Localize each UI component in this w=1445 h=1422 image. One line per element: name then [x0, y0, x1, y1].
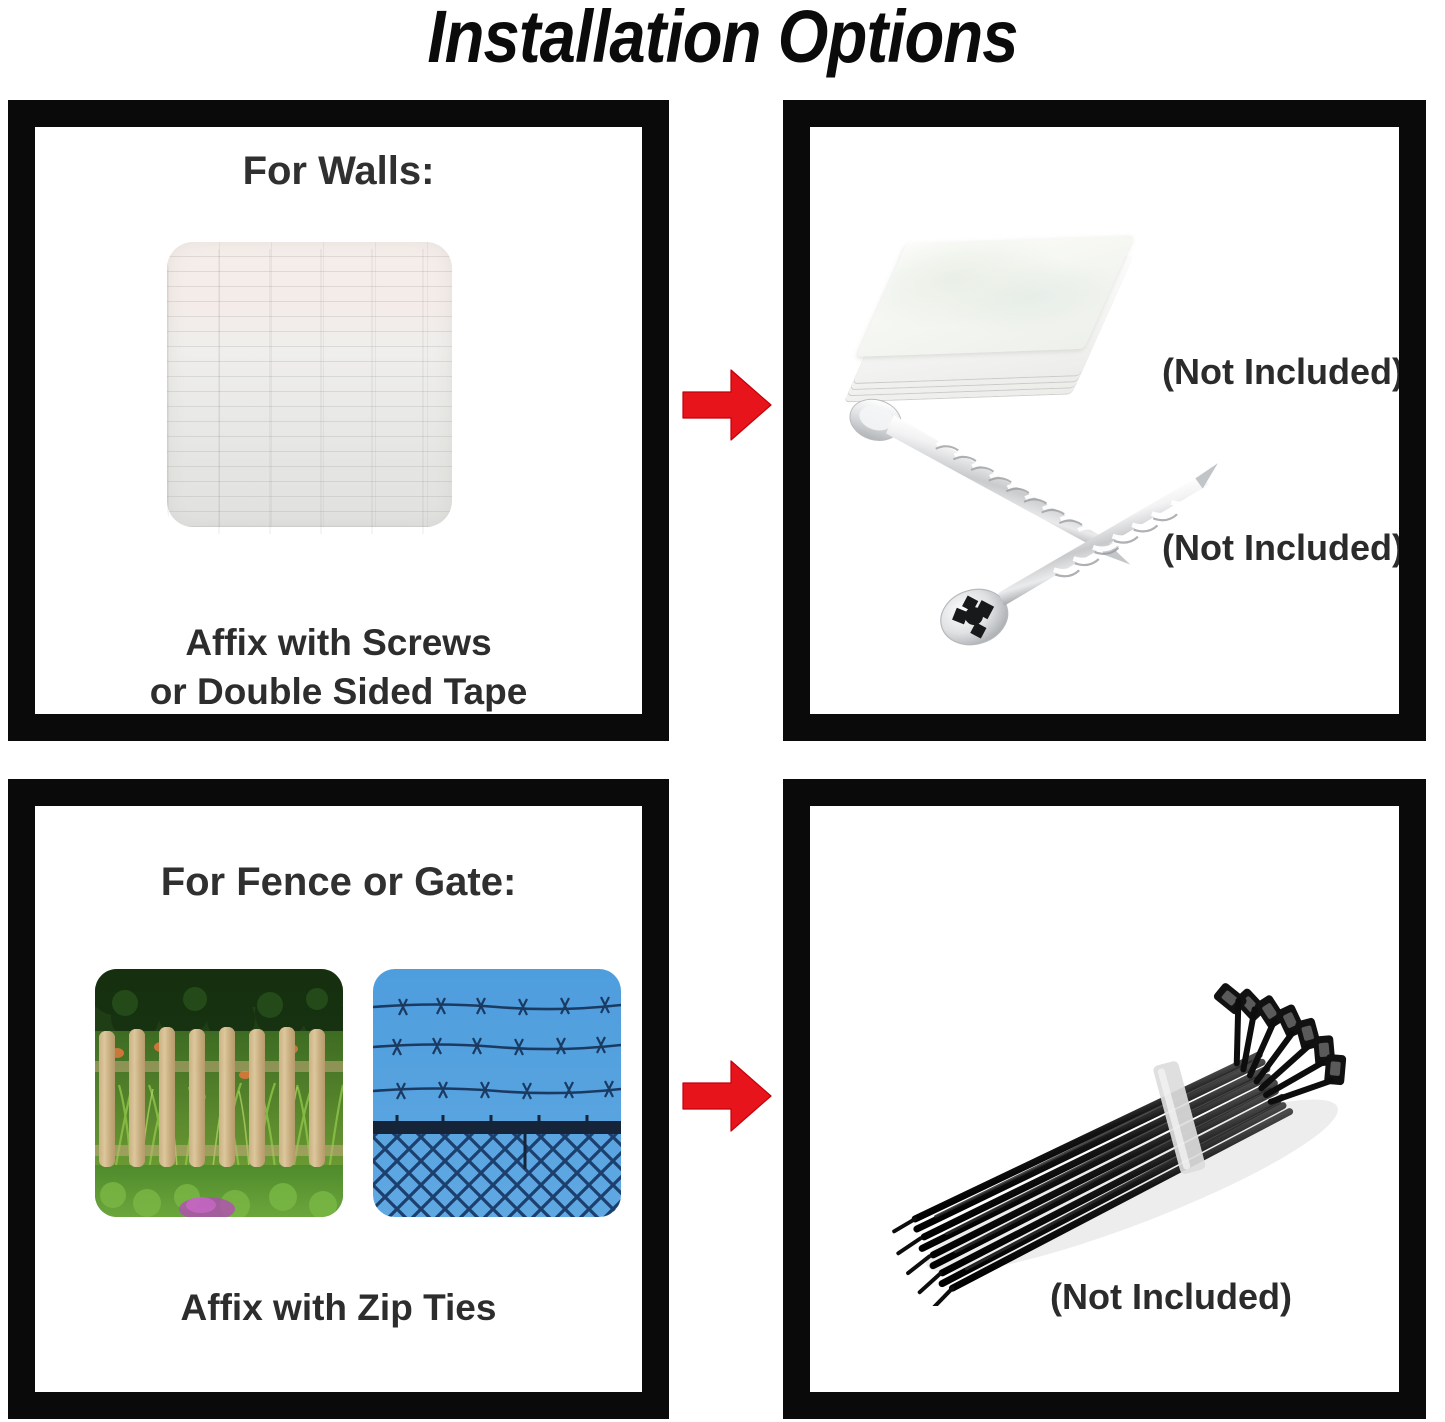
panel-for-fence-content: For Fence or Gate:: [35, 806, 642, 1392]
red-right-arrow-icon-bottom: [681, 1057, 773, 1135]
panel-for-fence-or-gate: For Fence or Gate:: [8, 779, 669, 1419]
panel-heading-for-walls: For Walls:: [35, 149, 642, 194]
screws-not-included-label: (Not Included): [1162, 527, 1399, 569]
page-title: Installation Options: [87, 0, 1359, 79]
panel-fence-hardware: (Not Included): [783, 779, 1426, 1419]
caption-for-fence: Affix with Zip Ties: [35, 1284, 642, 1333]
panel-fence-hardware-content: (Not Included): [810, 806, 1399, 1392]
caption-for-walls: Affix with Screws or Double Sided Tape: [35, 619, 642, 714]
double-sided-tape-stack-image: [865, 228, 1122, 397]
tape-not-included-label: (Not Included): [1162, 351, 1399, 393]
infographic-page: Installation Options For Walls: Affix wi…: [0, 0, 1445, 1422]
caption-line-2: or Double Sided Tape: [35, 668, 642, 714]
panel-for-walls: For Walls: Affix with Screws or Double S…: [8, 100, 669, 741]
panel-for-walls-content: For Walls: Affix with Screws or Double S…: [35, 127, 642, 714]
panel-wall-hardware: (Not Included): [783, 100, 1426, 741]
zip-ties-not-included-label: (Not Included): [1050, 1276, 1292, 1318]
barbed-wire-chain-link-fence-photo: [373, 969, 621, 1217]
panel-heading-for-fence: For Fence or Gate:: [35, 860, 642, 905]
white-brick-wall-swatch-image: [167, 242, 452, 527]
red-right-arrow-icon-top: [681, 366, 773, 444]
panel-wall-hardware-content: (Not Included): [810, 127, 1399, 714]
caption-line-1: Affix with Screws: [35, 619, 642, 668]
wooden-picket-fence-photo: [95, 969, 343, 1217]
black-zip-ties-bundle-image: [832, 886, 1392, 1306]
